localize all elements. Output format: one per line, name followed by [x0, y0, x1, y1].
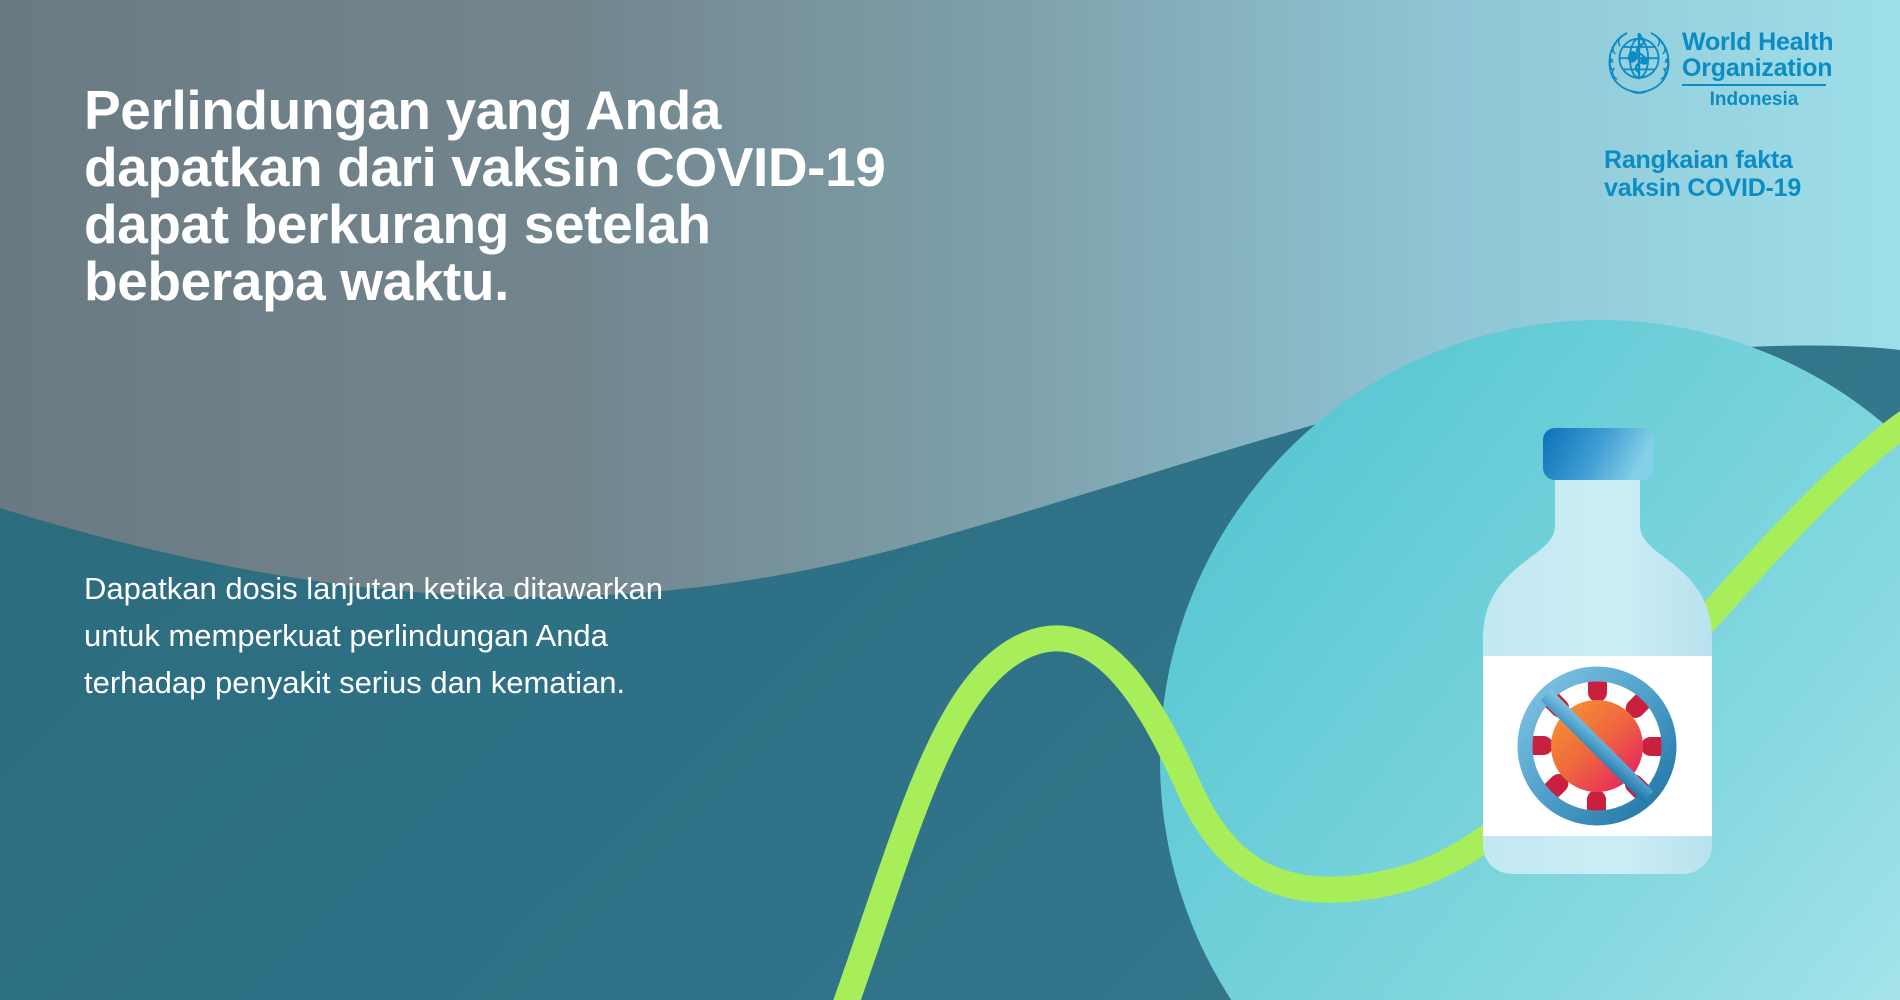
who-covid-fact-poster: Perlindungan yang Anda dapatkan dari vak…: [0, 0, 1900, 1000]
page-title: Perlindungan yang Anda dapatkan dari vak…: [84, 82, 984, 310]
series-title: Rangkaian fakta vaksin COVID-19: [1604, 146, 1801, 202]
vial-cap: [1543, 428, 1653, 480]
who-country-label: Indonesia: [1682, 89, 1826, 111]
who-organization-name: World Health Organization: [1682, 29, 1833, 81]
supporting-copy: Dapatkan dosis lanjutan ketika ditawarka…: [84, 565, 784, 706]
no-virus-symbol: [1519, 668, 1675, 824]
who-logo-lockup: World Health Organization Indonesia: [1604, 26, 1884, 111]
globe-landmass: [1628, 51, 1638, 63]
who-divider-rule: [1682, 84, 1826, 86]
who-emblem-icon: [1604, 26, 1674, 96]
who-wordmark: World Health Organization Indonesia: [1682, 26, 1833, 111]
